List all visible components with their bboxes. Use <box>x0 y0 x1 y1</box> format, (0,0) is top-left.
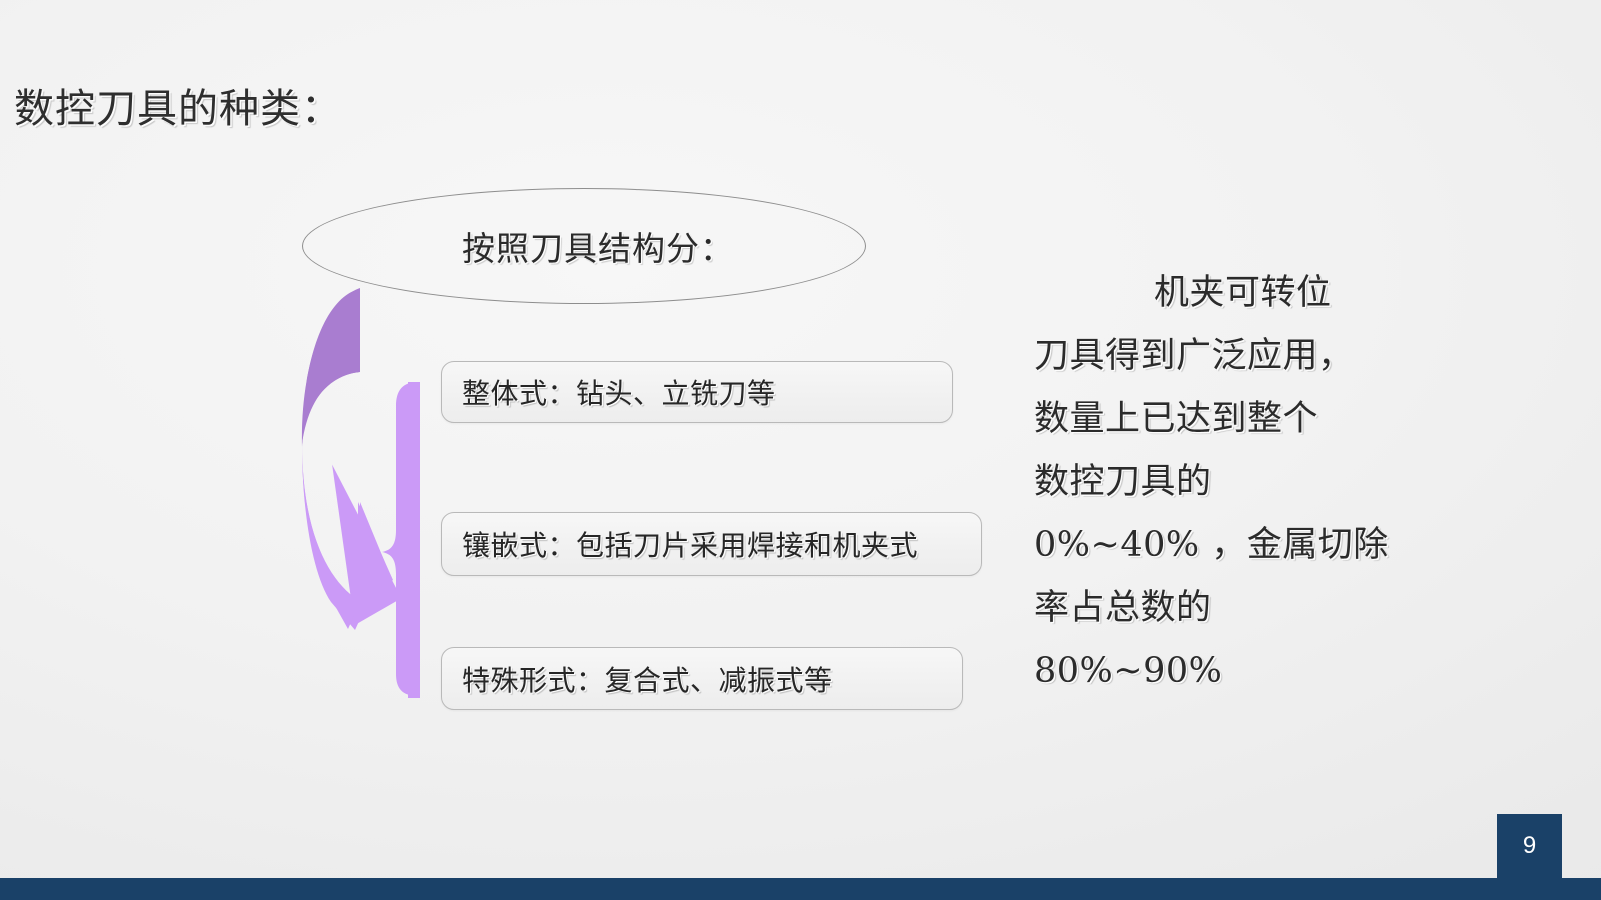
curved-arrow-and-brace-graphic <box>286 284 431 724</box>
category-box-insert[interactable]: 镶嵌式：包括刀片采用焊接和机夹式 <box>441 512 982 576</box>
paragraph-line: 机夹可转位 <box>1034 262 1384 325</box>
paragraph-line: 数控刀具的 <box>1034 451 1384 514</box>
category-label-insert: 镶嵌式：包括刀片采用焊接和机夹式 <box>442 524 918 564</box>
slide-canvas: 数控刀具的种类： 按照刀具结构分： 整体式：钻头、立铣刀等 镶嵌式：包括刀片采用… <box>0 0 1601 900</box>
right-paragraph: 机夹可转位 刀具得到广泛应用， 数量上已达到整个 数控刀具的 0%~40% ，金… <box>1034 262 1384 703</box>
category-label-special: 特殊形式：复合式、减振式等 <box>442 659 833 699</box>
footer-bar <box>0 878 1601 900</box>
paragraph-line: 0%~40% ，金属切除 <box>1034 514 1384 577</box>
brace-spine <box>408 382 420 698</box>
paragraph-line: 率占总数的 <box>1034 577 1384 640</box>
paragraph-line: 80%~90% <box>1034 640 1384 703</box>
category-box-whole[interactable]: 整体式：钻头、立铣刀等 <box>441 361 953 423</box>
ellipse-callout-label: 按照刀具结构分： <box>462 222 734 270</box>
category-box-special[interactable]: 特殊形式：复合式、减振式等 <box>441 647 963 710</box>
page-number-label: 9 <box>1523 834 1536 858</box>
page-number-box: 9 <box>1497 814 1562 878</box>
page-title: 数控刀具的种类： <box>14 86 342 133</box>
category-label-whole: 整体式：钻头、立铣刀等 <box>442 372 776 412</box>
paragraph-line: 刀具得到广泛应用， <box>1034 325 1384 388</box>
paragraph-line: 数量上已达到整个 <box>1034 388 1384 451</box>
